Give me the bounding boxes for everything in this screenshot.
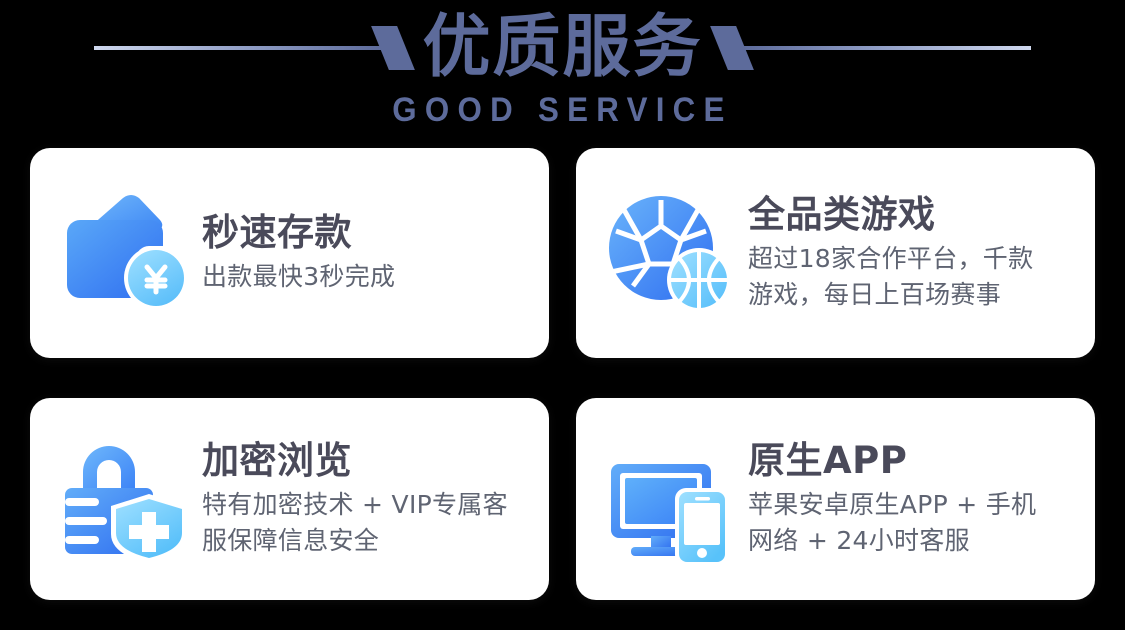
card-title: 加密浏览 xyxy=(202,440,533,481)
page-header: 优质服务 GOOD SERVICE xyxy=(0,0,1125,140)
header-rule-right xyxy=(719,25,1049,71)
feature-card-deposit[interactable]: 秒速存款 出款最快3秒完成 xyxy=(30,148,549,358)
card-desc-line: 苹果安卓原生APP + 手机 xyxy=(748,487,1079,523)
feature-card-games[interactable]: 全品类游戏 超过18家合作平台，千款 游戏，每日上百场赛事 xyxy=(576,148,1095,358)
soccer-ball-icon xyxy=(598,178,748,328)
card-description: 苹果安卓原生APP + 手机 网络 + 24小时客服 xyxy=(748,487,1079,558)
card-title: 全品类游戏 xyxy=(748,194,1079,235)
page-title: 优质服务 xyxy=(406,14,718,82)
card-desc-line: 超过18家合作平台，千款 xyxy=(748,241,1079,277)
card-desc-line: 游戏，每日上百场赛事 xyxy=(748,277,1079,313)
feature-card-encryption[interactable]: 加密浏览 特有加密技术 + VIP专属客 服保障信息安全 xyxy=(30,398,549,600)
card-text-native-app: 原生APP 苹果安卓原生APP + 手机 网络 + 24小时客服 xyxy=(748,440,1095,558)
header-line-right xyxy=(743,46,1031,50)
card-desc-line: 出款最快3秒完成 xyxy=(202,259,533,295)
card-description: 特有加密技术 + VIP专属客 服保障信息安全 xyxy=(202,487,533,558)
card-description: 超过18家合作平台，千款 游戏，每日上百场赛事 xyxy=(748,241,1079,312)
card-text-deposit: 秒速存款 出款最快3秒完成 xyxy=(202,212,549,295)
lock-shield-icon xyxy=(52,424,202,574)
card-description: 出款最快3秒完成 xyxy=(202,259,533,295)
page-subtitle: GOOD SERVICE xyxy=(45,93,1080,127)
card-title: 原生APP xyxy=(748,440,1079,481)
feature-card-native-app[interactable]: 原生APP 苹果安卓原生APP + 手机 网络 + 24小时客服 xyxy=(576,398,1095,600)
promo-page: 优质服务 GOOD SERVICE xyxy=(0,0,1125,630)
card-desc-line: 服保障信息安全 xyxy=(202,523,533,559)
monitor-phone-icon xyxy=(598,424,748,574)
header-line-left xyxy=(94,46,382,50)
title-row: 优质服务 xyxy=(0,0,1125,96)
card-desc-line: 特有加密技术 + VIP专属客 xyxy=(202,487,533,523)
card-title: 秒速存款 xyxy=(202,212,533,253)
card-text-games: 全品类游戏 超过18家合作平台，千款 游戏，每日上百场赛事 xyxy=(748,194,1095,312)
header-rule-left xyxy=(76,25,406,71)
card-desc-line: 网络 + 24小时客服 xyxy=(748,523,1079,559)
wallet-icon xyxy=(52,178,202,328)
feature-card-grid: 秒速存款 出款最快3秒完成 xyxy=(30,148,1095,600)
card-text-encryption: 加密浏览 特有加密技术 + VIP专属客 服保障信息安全 xyxy=(202,440,549,558)
